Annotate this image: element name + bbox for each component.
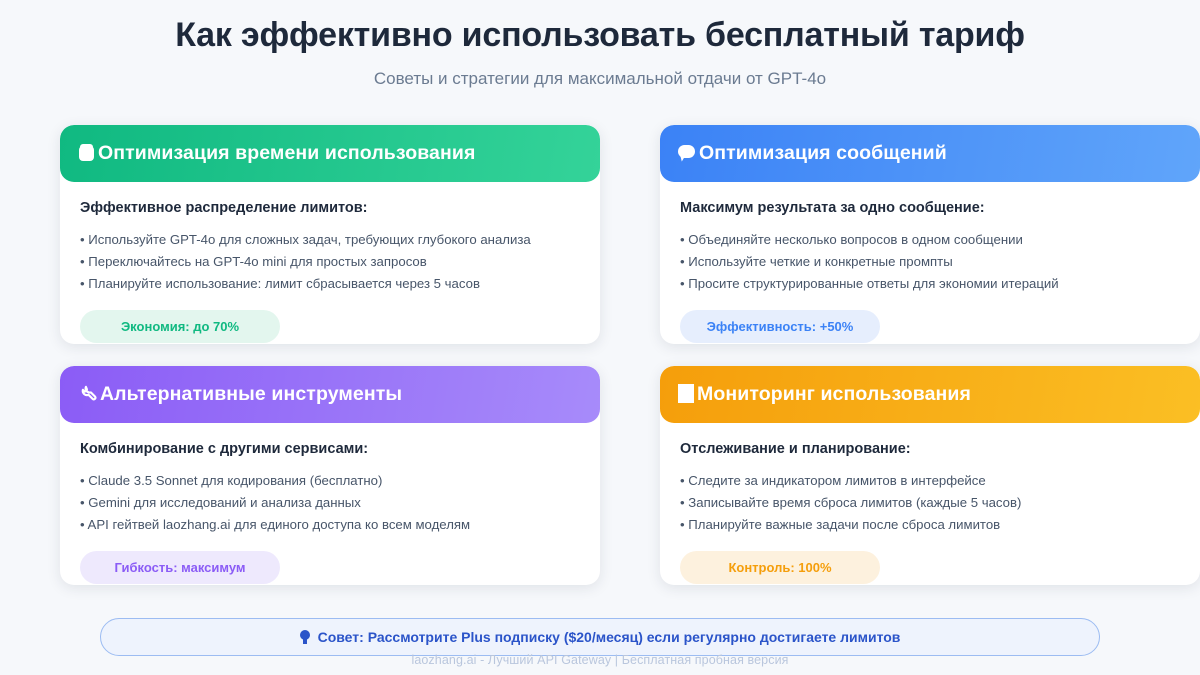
card-bullet-list: • Claude 3.5 Sonnet для кодирования (бес… <box>80 471 580 537</box>
card-usage-monitoring: Мониторинг использования Отслеживание и … <box>660 366 1200 585</box>
list-item: • Просите структурированные ответы для э… <box>680 274 1180 294</box>
card-body: Максимум результата за одно сообщение: •… <box>660 182 1200 344</box>
list-item: • Используйте четкие и конкретные промпт… <box>680 252 1180 272</box>
list-item: • Планируйте использование: лимит сбрасы… <box>80 274 580 294</box>
card-body: Эффективное распределение лимитов: • Исп… <box>60 182 600 344</box>
card-subtitle: Комбинирование с другими сервисами: <box>80 441 580 457</box>
bar-chart-icon <box>678 384 696 404</box>
card-bullet-list: • Следите за индикатором лимитов в интер… <box>680 471 1180 537</box>
card-title: Альтернативные инструменты <box>100 383 402 406</box>
card-header: Оптимизация сообщений <box>660 125 1200 182</box>
tip-banner-text: Совет: Рассмотрите Plus подписку ($20/ме… <box>318 629 901 645</box>
status-badge: Экономия: до 70% <box>80 310 280 343</box>
card-alternative-tools: Альтернативные инструменты Комбинировани… <box>60 366 600 585</box>
list-item: • API гейтвей laozhang.ai для единого до… <box>80 515 580 535</box>
card-title: Оптимизация сообщений <box>699 142 947 165</box>
list-item: • Gemini для исследований и анализа данн… <box>80 493 580 513</box>
cards-grid: Оптимизация времени использования Эффект… <box>60 125 1140 585</box>
card-header: Альтернативные инструменты <box>60 366 600 423</box>
card-time-optimization: Оптимизация времени использования Эффект… <box>60 125 600 344</box>
page-header: Как эффективно использовать бесплатный т… <box>60 0 1140 89</box>
wrench-icon <box>78 384 99 404</box>
card-header: Оптимизация времени использования <box>60 125 600 182</box>
page-subtitle: Советы и стратегии для максимальной отда… <box>60 69 1140 89</box>
status-badge: Гибкость: максимум <box>80 551 280 584</box>
card-subtitle: Отслеживание и планирование: <box>680 441 1180 457</box>
list-item: • Используйте GPT-4o для сложных задач, … <box>80 230 580 250</box>
list-item: • Claude 3.5 Sonnet для кодирования (бес… <box>80 471 580 491</box>
list-item: • Записывайте время сброса лимитов (кажд… <box>680 493 1180 513</box>
infographic-page: Как эффективно использовать бесплатный т… <box>0 0 1200 675</box>
card-bullet-list: • Используйте GPT-4o для сложных задач, … <box>80 230 580 296</box>
page-title: Как эффективно использовать бесплатный т… <box>60 14 1140 57</box>
watermark: laozhang.ai - Лучший API Gateway | Беспл… <box>0 653 1200 667</box>
list-item: • Следите за индикатором лимитов в интер… <box>680 471 1180 491</box>
card-title: Оптимизация времени использования <box>98 142 475 165</box>
card-header: Мониторинг использования <box>660 366 1200 423</box>
list-item: • Планируйте важные задачи после сброса … <box>680 515 1180 535</box>
card-subtitle: Максимум результата за одно сообщение: <box>680 200 1180 216</box>
card-bullet-list: • Объединяйте несколько вопросов в одном… <box>680 230 1180 296</box>
light-bulb-icon <box>300 630 313 644</box>
card-title: Мониторинг использования <box>697 383 971 406</box>
status-badge: Эффективность: +50% <box>680 310 880 343</box>
list-item: • Объединяйте несколько вопросов в одном… <box>680 230 1180 250</box>
status-badge: Контроль: 100% <box>680 551 880 584</box>
tip-banner: Совет: Рассмотрите Plus подписку ($20/ме… <box>100 618 1100 656</box>
card-subtitle: Эффективное распределение лимитов: <box>80 200 580 216</box>
speech-balloon-icon <box>678 144 698 163</box>
card-message-optimization: Оптимизация сообщений Максимум результат… <box>660 125 1200 344</box>
alarm-clock-icon <box>78 144 97 163</box>
card-body: Комбинирование с другими сервисами: • Cl… <box>60 423 600 585</box>
list-item: • Переключайтесь на GPT-4o mini для прос… <box>80 252 580 272</box>
card-body: Отслеживание и планирование: • Следите з… <box>660 423 1200 585</box>
